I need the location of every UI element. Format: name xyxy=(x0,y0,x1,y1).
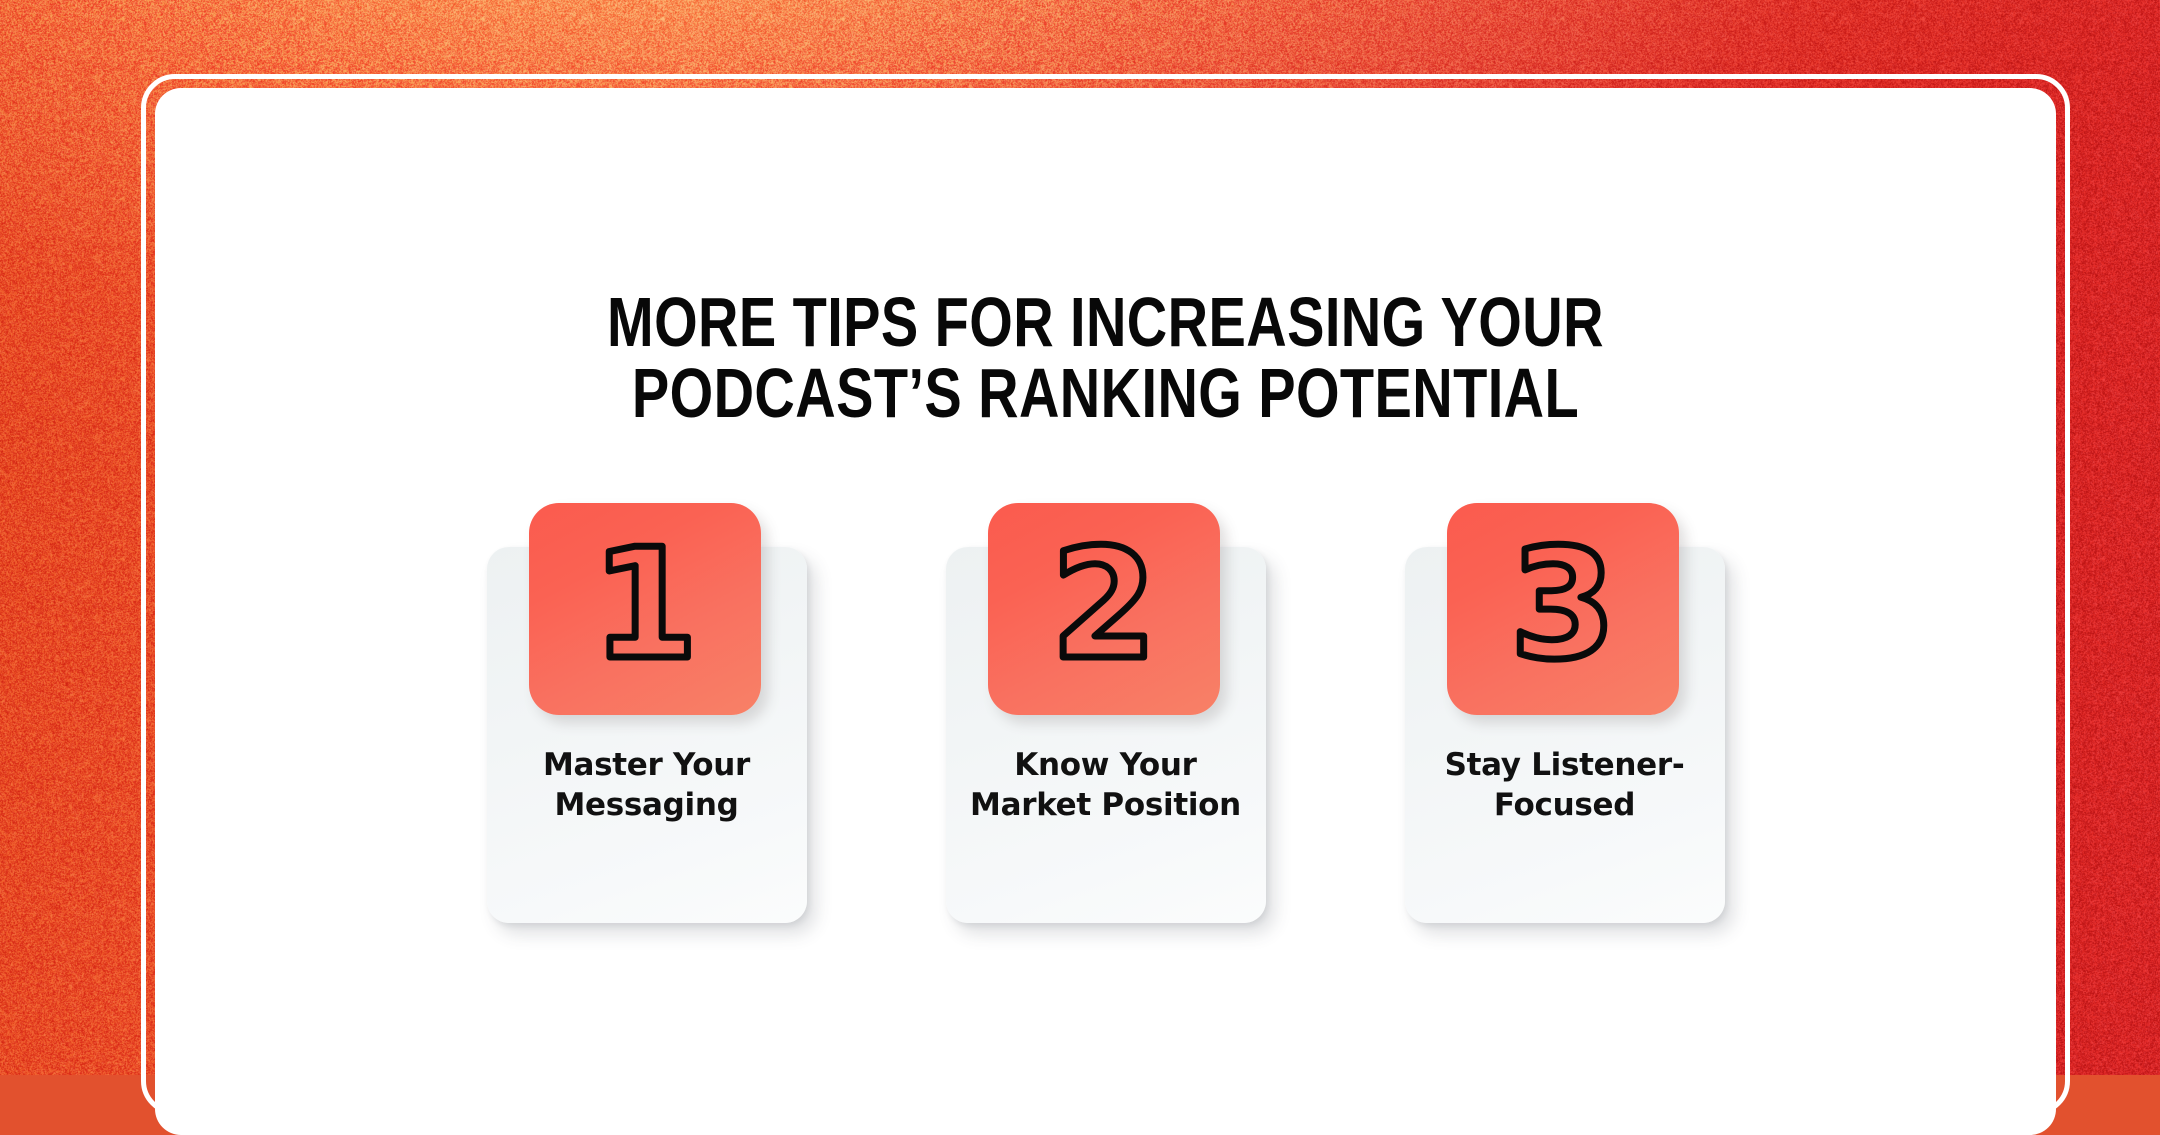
tip-number: 1 xyxy=(592,529,698,689)
tip-card-title: Master Your Messaging xyxy=(493,745,801,826)
tip-number-tile: 3 xyxy=(1447,503,1679,715)
tip-card-title: Know Your Market Position xyxy=(952,745,1260,826)
tip-number-tile: 1 xyxy=(529,503,761,715)
tip-number-tile: 2 xyxy=(988,503,1220,715)
tip-number: 3 xyxy=(1510,529,1616,689)
number-glyph-icon: 2 xyxy=(1038,529,1170,689)
number-glyph-icon: 1 xyxy=(579,529,711,689)
tips-card-row: 1 Master Your Messaging 2 Know Your Mark… xyxy=(155,503,2056,923)
tip-card[interactable]: 1 Master Your Messaging xyxy=(487,503,807,923)
number-glyph-icon: 3 xyxy=(1497,529,1629,689)
tip-number: 2 xyxy=(1051,529,1157,689)
tip-card-title: Stay Listener- Focused xyxy=(1411,745,1719,826)
tip-card[interactable]: 2 Know Your Market Position xyxy=(946,503,1266,923)
page-title: MORE TIPS FOR INCREASING YOUR PODCAST’S … xyxy=(345,287,1866,428)
content-panel: MORE TIPS FOR INCREASING YOUR PODCAST’S … xyxy=(155,88,2056,1135)
tip-card[interactable]: 3 Stay Listener- Focused xyxy=(1405,503,1725,923)
